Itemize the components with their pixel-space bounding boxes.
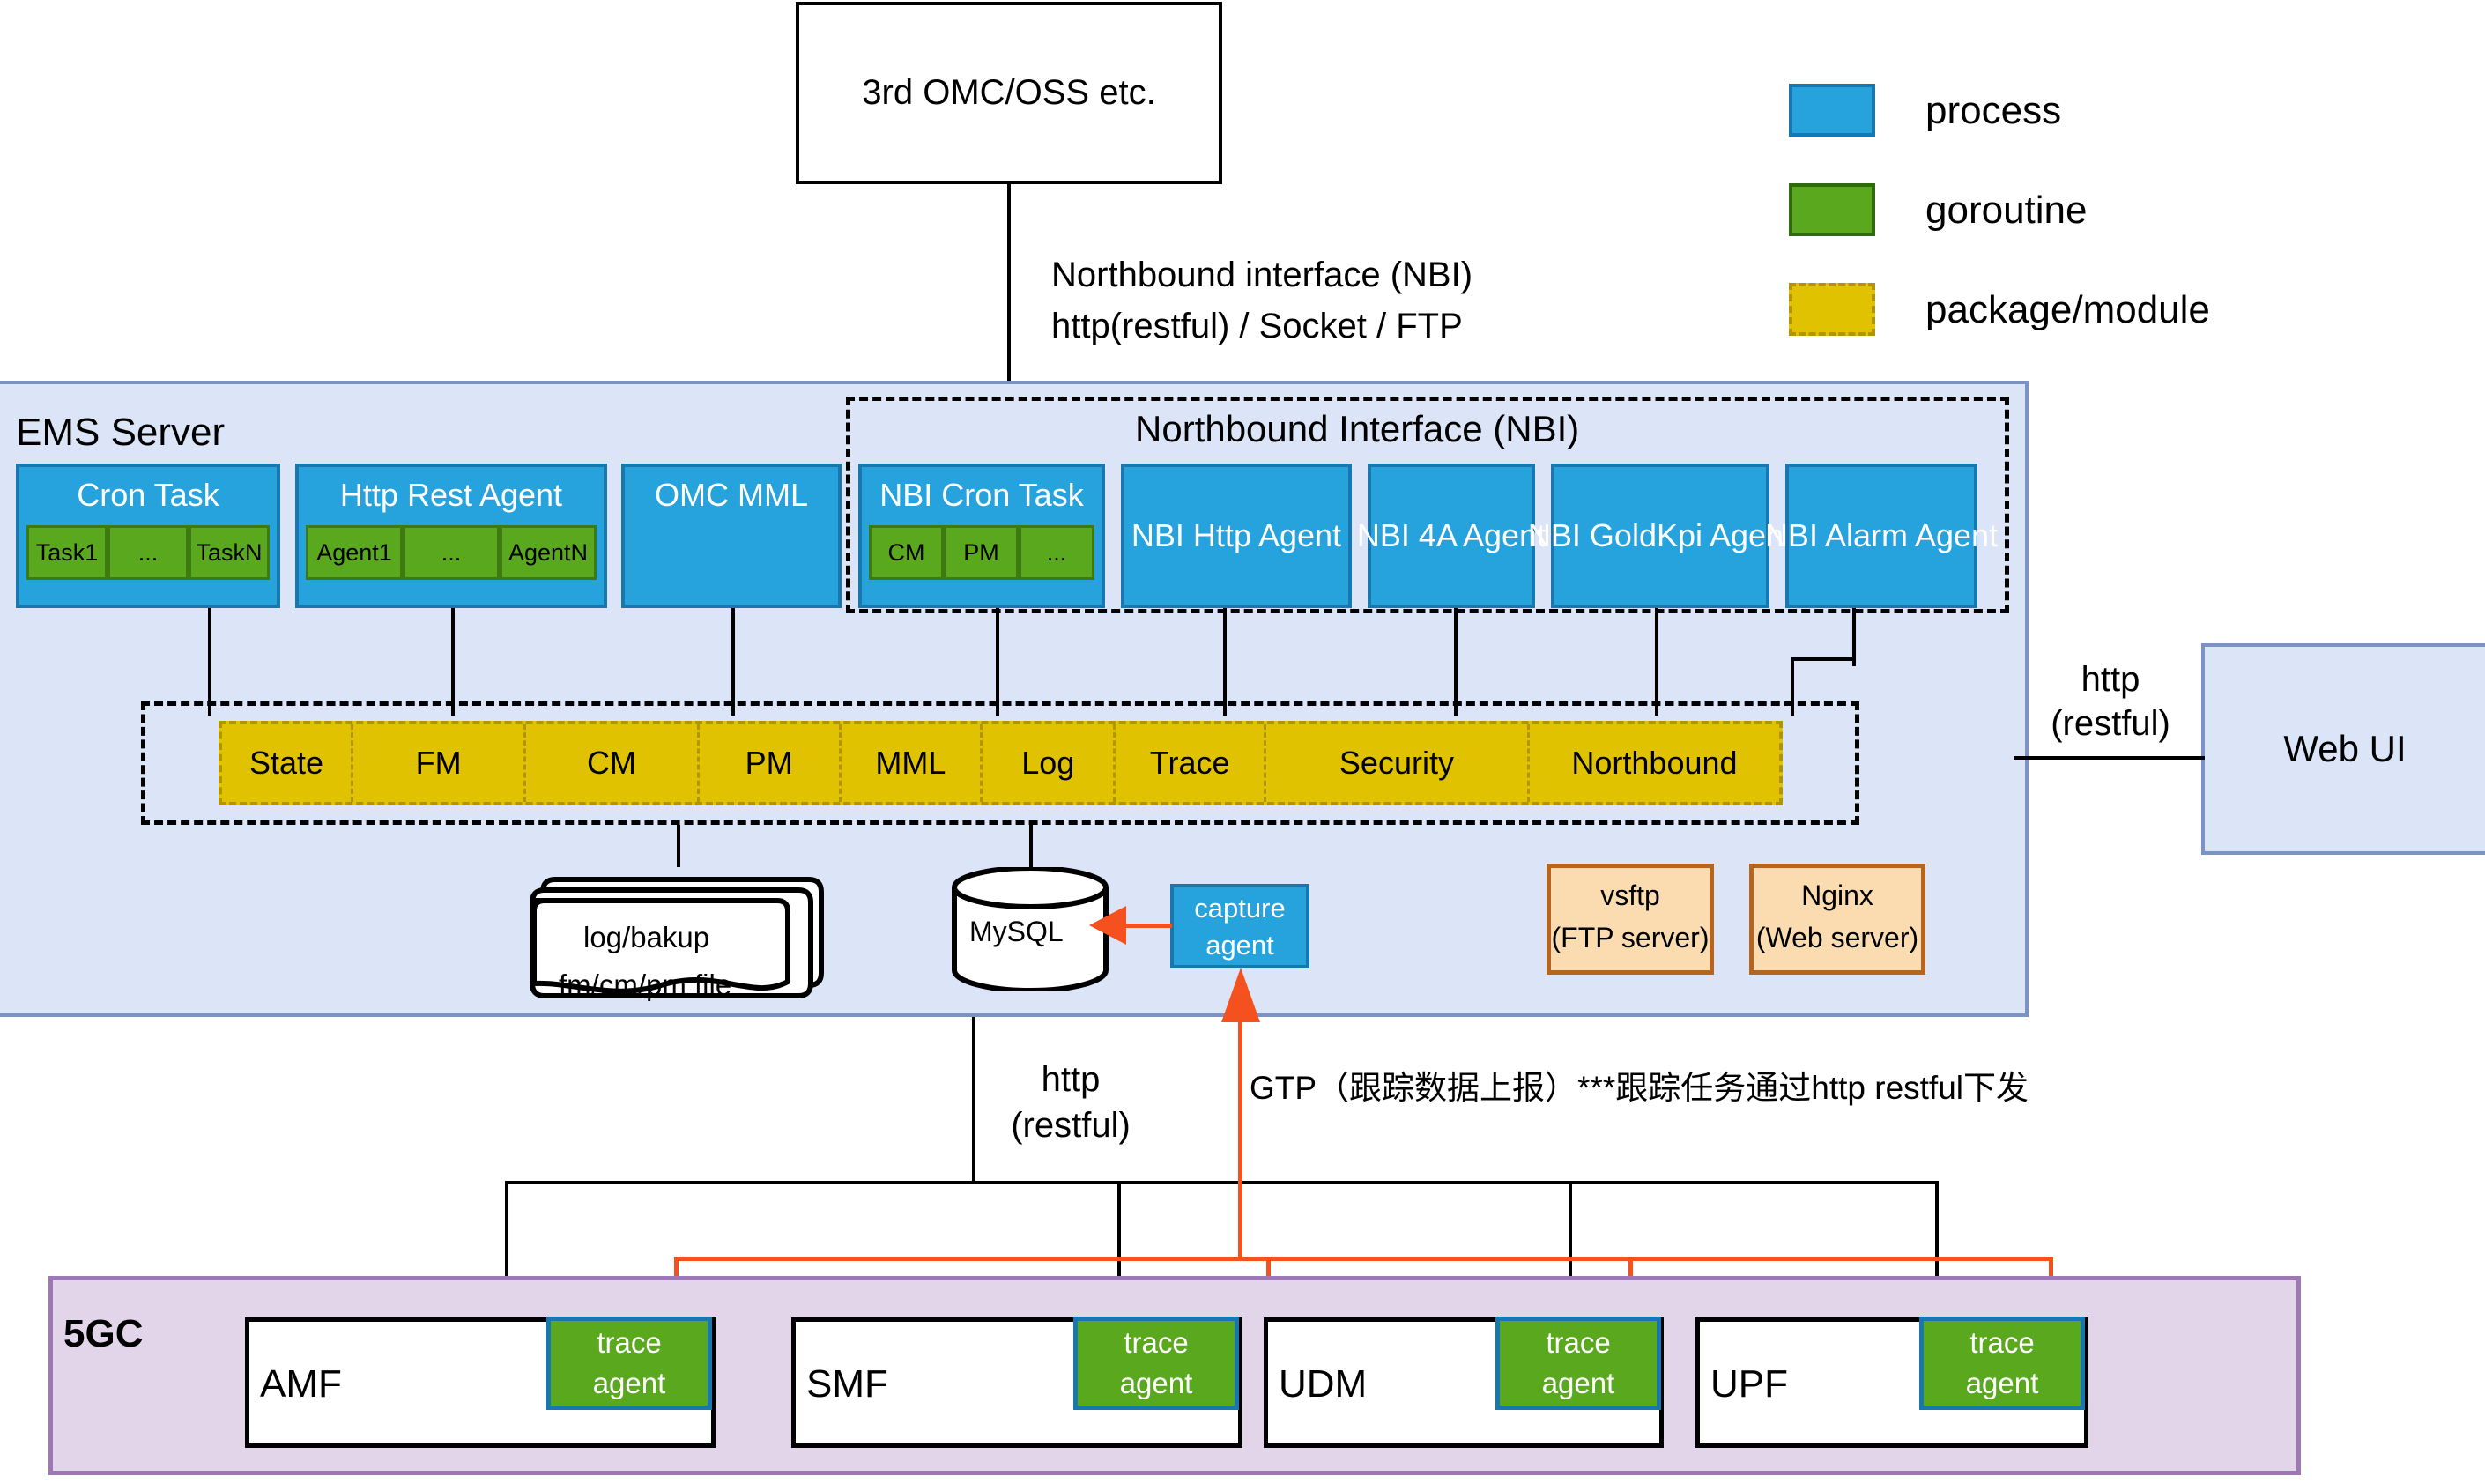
gtp-trace-note: GTP（跟踪数据上报）***跟踪任务通过http restful下发: [1250, 1068, 2029, 1108]
file-store-stack: log/bakup fm/cm/pm file: [529, 860, 837, 1001]
third-party-omc-oss-label: 3rd OMC/OSS etc.: [862, 73, 1155, 113]
capture-agent-label-line2: agent: [1174, 928, 1306, 963]
legend-swatch-process: [1789, 84, 1875, 137]
connector-http-rest-agent-to-modules: [451, 608, 455, 716]
connector-modules-to-mysql: [1029, 825, 1033, 867]
process-nbi-cron-task: NBI Cron Task CM PM ...: [858, 464, 1105, 608]
connector-nbi-cron-task-to-modules: [996, 608, 999, 716]
connector-omc-mml-to-modules: [731, 608, 735, 716]
connector-nbi-4a-agent-to-modules: [1454, 608, 1458, 716]
goroutine-item: ...: [403, 525, 500, 580]
trace-agent-upf-line2: agent: [1924, 1363, 2081, 1404]
southbound-http-label-line2: (restful): [996, 1103, 1146, 1147]
web-ui-label: Web UI: [2283, 728, 2406, 770]
process-nbi-4a-agent-label: NBI 4A Agent: [1371, 467, 1532, 605]
module-pm: PM: [700, 724, 842, 802]
southbound-bus-black: [505, 1181, 1939, 1184]
goroutine-item: ...: [1019, 525, 1094, 580]
arrowhead-to-mysql-icon: [1089, 904, 1128, 946]
process-nbi-goldkpi-agent-label: NBI GoldKpi Agent: [1554, 467, 1766, 605]
trace-agent-upf-line1: trace: [1924, 1323, 2081, 1363]
process-http-rest-agent-label: Http Rest Agent: [299, 472, 604, 518]
server-vsftp-line2: (FTP server): [1551, 919, 1710, 958]
goroutine-group-cron-task: Task1 ... TaskN: [26, 525, 270, 580]
southbound-http-label-line1: http: [996, 1057, 1146, 1102]
goroutine-item: CM: [869, 525, 944, 580]
network-function-upf-label: UPF: [1710, 1361, 1788, 1408]
legend-label-package-module: package/module: [1925, 286, 2210, 334]
connector-ems-to-5gc-bus: [972, 1017, 975, 1184]
process-omc-mml: OMC MML: [621, 464, 842, 608]
process-nbi-alarm-agent: NBI Alarm Agent: [1785, 464, 1977, 608]
web-ui-link-label-line1: http: [2027, 659, 2194, 700]
connector-nbi-alarm-agent-seg2: [1791, 657, 1856, 661]
process-nbi-4a-agent: NBI 4A Agent: [1368, 464, 1535, 608]
legend-swatch-goroutine: [1789, 183, 1875, 236]
process-nbi-cron-task-label: NBI Cron Task: [862, 472, 1102, 518]
mysql-database: MySQL: [950, 867, 1110, 991]
nbi-interface-label-line1: Northbound interface (NBI): [1051, 254, 1472, 297]
module-trace: Trace: [1116, 724, 1266, 802]
connector-ems-to-web-ui: [2014, 756, 2205, 760]
capture-agent-label-line1: capture: [1174, 891, 1306, 926]
trace-agent-upf: trace agent: [1919, 1317, 2085, 1410]
process-capture-agent: capture agent: [1170, 884, 1309, 968]
trace-agent-amf-line2: agent: [551, 1363, 708, 1404]
process-cron-task: Cron Task Task1 ... TaskN: [16, 464, 280, 608]
goroutine-item: PM: [944, 525, 1019, 580]
trace-agent-amf-line1: trace: [551, 1323, 708, 1363]
module-mml: MML: [842, 724, 983, 802]
file-store-label-line1: log/bakup: [583, 920, 709, 955]
module-cm: CM: [526, 724, 699, 802]
server-vsftp: vsftp (FTP server): [1547, 864, 1714, 975]
ems-server-title: EMS Server: [16, 409, 225, 456]
trace-agent-udm-line2: agent: [1500, 1363, 1657, 1404]
legend-label-process: process: [1925, 87, 2061, 135]
flow-capture-agent-to-mysql: [1121, 924, 1172, 928]
server-nginx: Nginx (Web server): [1749, 864, 1925, 975]
network-function-amf-label: AMF: [260, 1361, 342, 1408]
goroutine-group-http-rest-agent: Agent1 ... AgentN: [306, 525, 597, 580]
trace-agent-smf-line2: agent: [1078, 1363, 1235, 1404]
process-nbi-http-agent-label: NBI Http Agent: [1124, 467, 1348, 605]
server-vsftp-line1: vsftp: [1551, 877, 1710, 916]
trace-agent-smf: trace agent: [1073, 1317, 1239, 1410]
mysql-label: MySQL: [969, 915, 1064, 949]
server-nginx-line1: Nginx: [1754, 877, 1921, 916]
web-ui-link-label-line2: (restful): [2027, 703, 2194, 744]
goroutine-item: AgentN: [500, 525, 597, 580]
third-party-omc-oss-box: 3rd OMC/OSS etc.: [796, 2, 1222, 184]
trace-bus-orange: [674, 1257, 2053, 1261]
module-state: State: [222, 724, 353, 802]
server-nginx-line2: (Web server): [1754, 919, 1921, 958]
legend-swatch-package-module: [1789, 283, 1875, 336]
nbi-interface-label-line2: http(restful) / Socket / FTP: [1051, 305, 1463, 348]
process-nbi-alarm-agent-label: NBI Alarm Agent: [1789, 467, 1974, 605]
goroutine-item: TaskN: [189, 525, 270, 580]
process-omc-mml-label: OMC MML: [625, 472, 838, 518]
module-northbound: Northbound: [1530, 724, 1779, 802]
goroutine-item: ...: [108, 525, 189, 580]
module-security: Security: [1266, 724, 1530, 802]
arrowhead-to-capture-agent-icon: [1220, 968, 1262, 1026]
process-nbi-http-agent: NBI Http Agent: [1121, 464, 1352, 608]
legend-label-goroutine: goroutine: [1925, 187, 2087, 234]
connector-nbi-http-agent-to-modules: [1223, 608, 1227, 716]
web-ui-box: Web UI: [2201, 643, 2485, 855]
connector-nbi-goldkpi-agent-to-modules: [1655, 608, 1658, 716]
trace-agent-udm: trace agent: [1495, 1317, 1661, 1410]
goroutine-item: Task1: [26, 525, 108, 580]
network-function-smf-label: SMF: [806, 1361, 888, 1408]
trace-agent-amf: trace agent: [546, 1317, 712, 1410]
network-function-udm-label: UDM: [1279, 1361, 1367, 1408]
trace-agent-udm-line1: trace: [1500, 1323, 1657, 1363]
module-log: Log: [983, 724, 1116, 802]
goroutine-item: Agent1: [306, 525, 403, 580]
legend: process goroutine package/module: [1789, 84, 2353, 322]
goroutine-group-nbi-cron-task: CM PM ...: [869, 525, 1094, 580]
module-bar: State FM CM PM MML Log Trace Security No…: [219, 721, 1783, 805]
process-cron-task-label: Cron Task: [19, 472, 277, 518]
process-nbi-goldkpi-agent: NBI GoldKpi Agent: [1551, 464, 1769, 608]
connector-cron-task-to-modules: [208, 608, 211, 716]
five-gc-title: 5GC: [63, 1310, 143, 1358]
architecture-diagram: 3rd OMC/OSS etc. Northbound interface (N…: [0, 0, 2485, 1484]
nbi-group-title: Northbound Interface (NBI): [1135, 406, 1579, 451]
trace-agent-smf-line1: trace: [1078, 1323, 1235, 1363]
module-fm: FM: [353, 724, 526, 802]
flow-5gc-to-capture-agent: [1238, 1022, 1242, 1260]
process-http-rest-agent: Http Rest Agent Agent1 ... AgentN: [295, 464, 607, 608]
file-store-label-line2: fm/cm/pm file: [559, 968, 731, 1003]
